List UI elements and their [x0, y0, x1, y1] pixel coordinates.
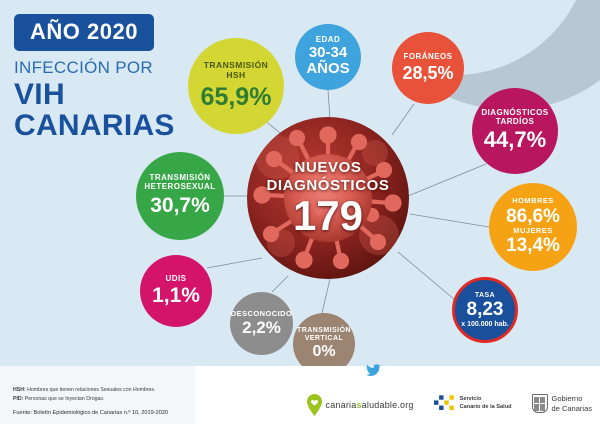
- header-block: AÑO 2020 INFECCIÓN POR VIH CANARIAS: [14, 14, 204, 141]
- bubble-caption-line2: HSH: [226, 71, 245, 81]
- center-label: NUEVOS DIAGNÓSTICOS 179: [266, 159, 389, 237]
- bubble-edad: EDAD 30-34 AÑOS: [295, 24, 361, 90]
- csal-post: aludable: [362, 400, 398, 410]
- bubble-caption-line1: TRANSMISIÓN: [297, 327, 351, 335]
- bubble-value: 1,1%: [152, 284, 200, 308]
- footnote-pid: PID: Personas que se Inyectan Drogas.: [13, 395, 263, 404]
- canarias-saludable-logo[interactable]: canariasaludable.org: [306, 394, 414, 416]
- csal-tld: .org: [397, 400, 413, 410]
- bubble-caption-line2: VERTICAL: [305, 335, 344, 343]
- year-badge: AÑO 2020: [14, 14, 154, 51]
- center-value: 179: [266, 195, 389, 237]
- footer-logos: canariasaludable.org Servicio Canario de…: [306, 393, 592, 416]
- page-title-vih: VIH: [14, 80, 204, 111]
- page-subtitle: INFECCIÓN POR: [14, 58, 204, 78]
- servicio-canario-salud-logo[interactable]: Servicio Canario de la Salud: [434, 393, 512, 413]
- bubble-caption-mujeres: MUJERES: [513, 227, 552, 235]
- gob-line2: de Canarias: [552, 404, 592, 413]
- footnote-hsh-key: HSH:: [13, 387, 26, 393]
- bubble-caption-line2: HETEROSEXUAL: [144, 183, 215, 192]
- page-title-canarias: CANARIAS: [14, 111, 204, 142]
- bubble-transmision-heterosexual: TRANSMISIÓN HETEROSEXUAL 30,7%: [136, 152, 224, 240]
- bubble-value: 2,2%: [242, 318, 281, 337]
- bubble-caption-line1: DESCONOCIDO: [231, 310, 293, 318]
- bubble-caption-line1: UDIS: [166, 275, 187, 284]
- bubble-value-unit: x 100.000 hab.: [461, 321, 508, 329]
- infographic-canvas: AÑO 2020 INFECCIÓN POR VIH CANARIAS: [0, 0, 600, 424]
- footnote-pid-key: PID:: [13, 396, 23, 402]
- bubble-desconocido: DESCONOCIDO 2,2%: [230, 292, 293, 355]
- source-line: Fuente: Boletín Epidemiológico de Canari…: [13, 410, 263, 416]
- footnote-hsh-text: Hombres que tienen relaciones Sexuales c…: [26, 387, 156, 393]
- csal-pre: canaria: [326, 400, 357, 410]
- twitter-bird-icon[interactable]: [366, 364, 381, 377]
- bubble-caption-line1: TASA: [475, 292, 495, 300]
- bubble-tasa: TASA 8,23 x 100.000 hab.: [452, 277, 518, 343]
- scs-line1: Servicio: [460, 395, 512, 403]
- footnote-pid-text: Personas que se Inyectan Drogas.: [23, 396, 104, 402]
- bubble-value: 44,7%: [484, 128, 546, 153]
- gobierno-canarias-logo[interactable]: Gobierno de Canarias: [532, 394, 592, 413]
- bubble-caption-line2: TARDÍOS: [496, 118, 535, 127]
- footnotes: HSH: Hombres que tienen relaciones Sexua…: [13, 386, 263, 416]
- bubble-value-mujeres: 13,4%: [506, 235, 560, 256]
- gob-line1: Gobierno: [552, 394, 592, 403]
- footnote-hsh: HSH: Hombres que tienen relaciones Sexua…: [13, 386, 263, 395]
- bubble-value-unit: AÑOS: [306, 61, 349, 78]
- bubble-caption-line1: FORÁNEOS: [404, 53, 453, 62]
- bubble-value: 30,7%: [150, 194, 210, 218]
- bubble-diagnosticos-tardios: DIAGNÓSTICOS TARDÍOS 44,7%: [472, 88, 558, 174]
- canarias-saludable-text: canariasaludable.org: [326, 400, 414, 410]
- scs-logo-icon: [434, 393, 456, 413]
- center-label-line1: NUEVOS: [266, 159, 389, 176]
- heart-pin-icon: [306, 394, 323, 416]
- scs-line2: Canario de la Salud: [460, 403, 512, 411]
- bubble-value-hombres: 86,6%: [506, 206, 560, 227]
- bubble-caption-hombres: HOMBRES: [512, 197, 554, 205]
- bubble-value: 28,5%: [402, 63, 453, 83]
- gobierno-text: Gobierno de Canarias: [552, 394, 592, 413]
- bubble-transmision-hsh: TRANSMISIÓN HSH 65,9%: [188, 38, 284, 134]
- bubble-value: 30-34: [309, 45, 347, 62]
- bubble-value: 8,23: [467, 299, 504, 320]
- bubble-value: 65,9%: [201, 83, 272, 111]
- bubble-sexo-distribucion: HOMBRES 86,6% MUJERES 13,4%: [489, 183, 577, 271]
- bubble-udis: UDIS 1,1%: [140, 255, 212, 327]
- scs-text: Servicio Canario de la Salud: [460, 395, 512, 411]
- bubble-foraneos: FORÁNEOS 28,5%: [392, 32, 464, 104]
- bubble-value: 0%: [312, 343, 335, 361]
- canary-coat-of-arms-icon: [532, 394, 548, 413]
- center-virus-node: NUEVOS DIAGNÓSTICOS 179: [247, 117, 409, 279]
